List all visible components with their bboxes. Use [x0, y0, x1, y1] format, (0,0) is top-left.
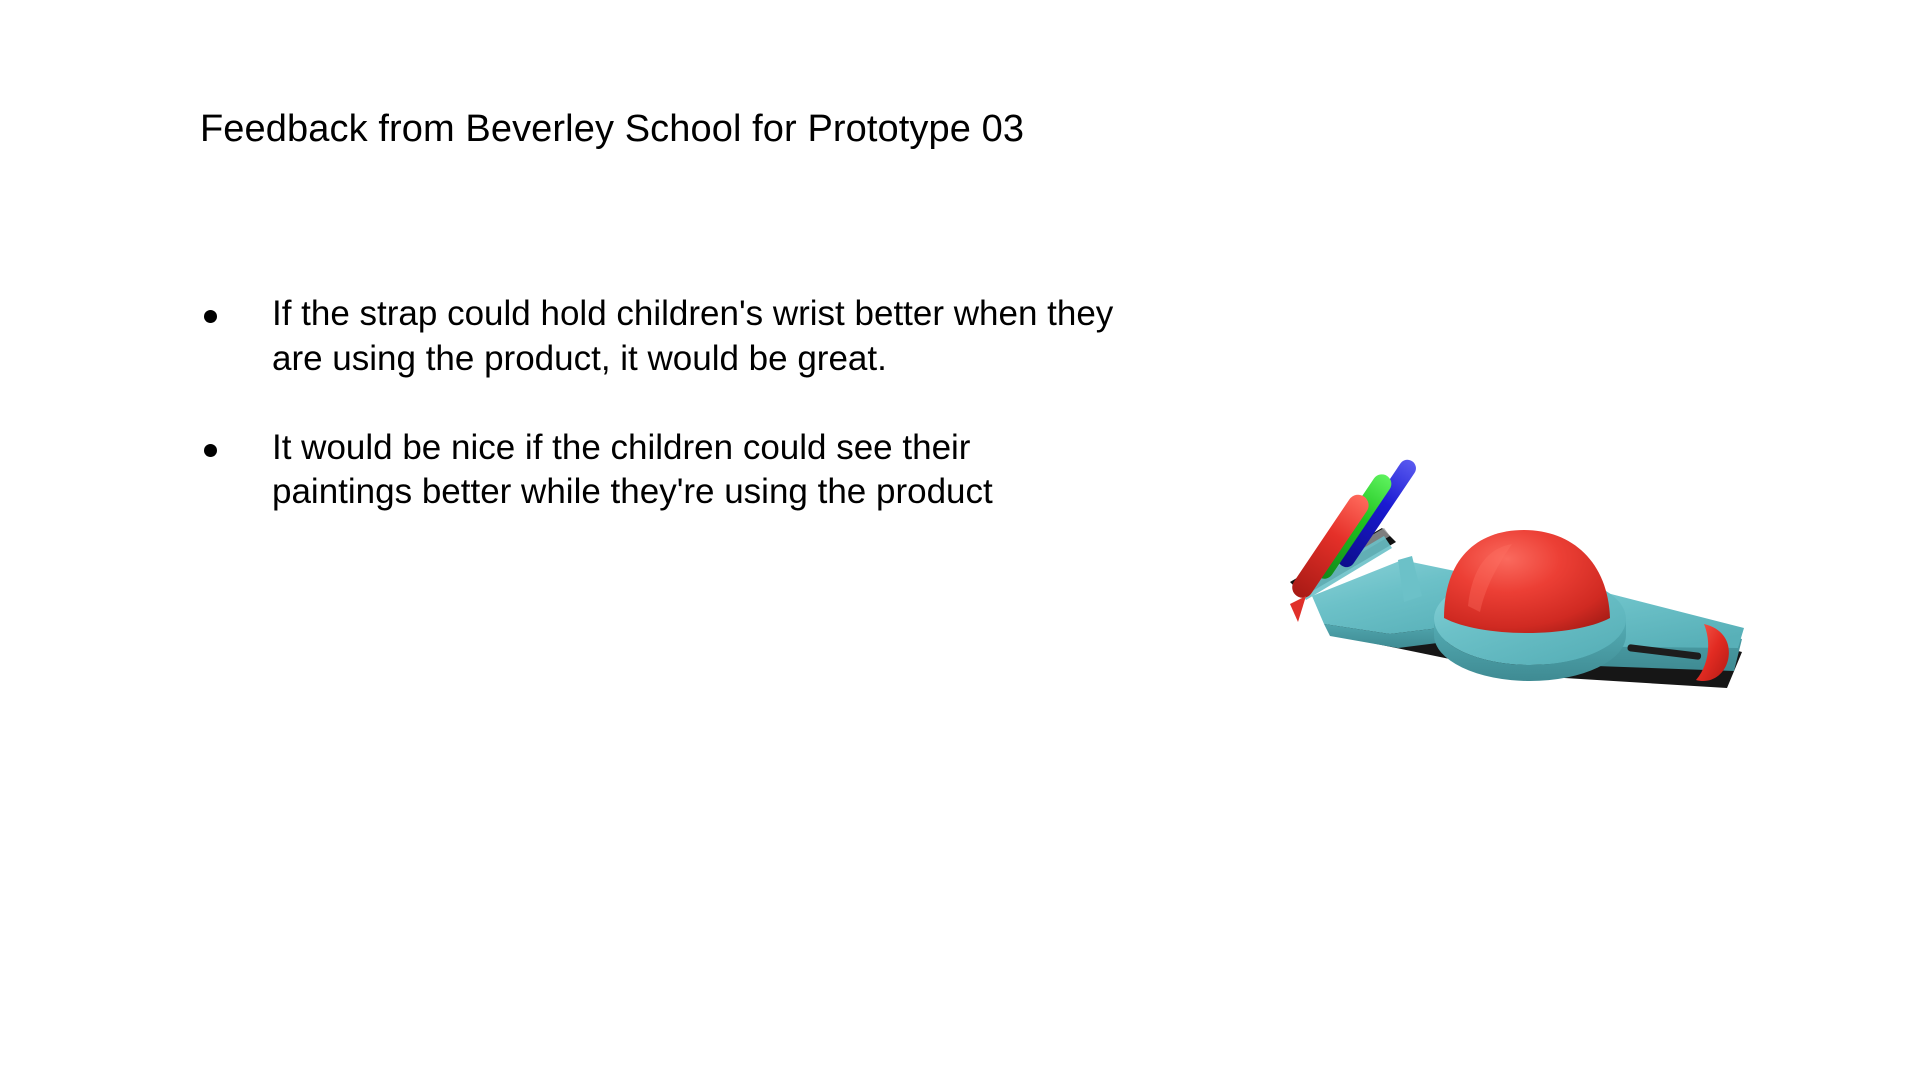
page-title: Feedback from Beverley School for Protot… [200, 107, 1024, 153]
prototype-3d-illustration [1272, 456, 1772, 726]
list-item: If the strap could hold children's wrist… [196, 292, 1116, 382]
bullet-text: It would be nice if the children could s… [272, 426, 1116, 516]
bullet-disc-icon [204, 444, 217, 457]
bullet-disc-icon [204, 310, 217, 323]
slide-canvas: Feedback from Beverley School for Protot… [0, 0, 1920, 1080]
bullet-text: If the strap could hold children's wrist… [272, 292, 1116, 382]
dome-grip [1444, 530, 1610, 633]
product-render-image [1272, 456, 1772, 726]
list-item: It would be nice if the children could s… [196, 426, 1116, 516]
feedback-bullet-list: If the strap could hold children's wrist… [196, 292, 1116, 515]
